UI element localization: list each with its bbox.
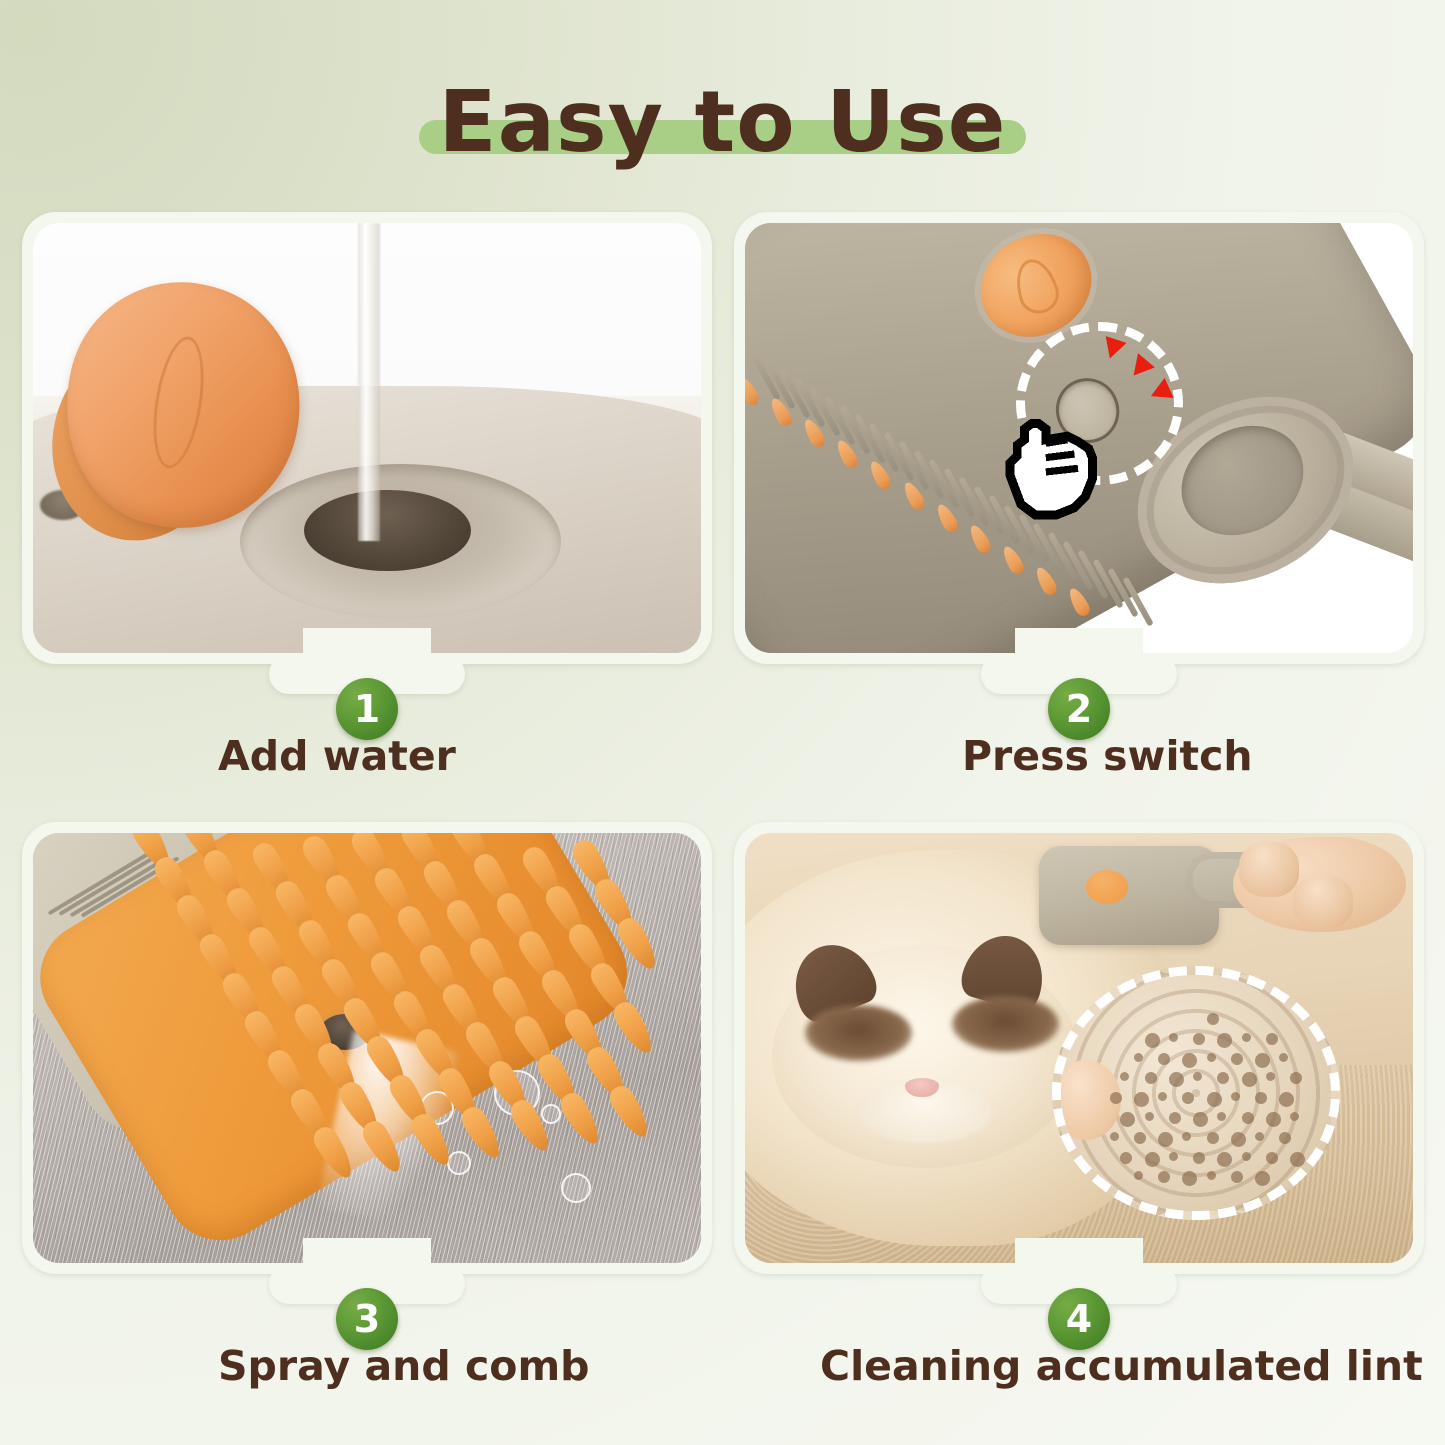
step-badge-1: 1	[336, 678, 398, 740]
step-caption-2: Press switch	[734, 732, 1424, 780]
step-4-photo	[745, 833, 1413, 1263]
silicone-spike	[834, 438, 861, 471]
silicone-spike	[966, 522, 993, 555]
lint-hole	[1158, 1092, 1167, 1101]
step-card-3: 3 Spray and comb	[22, 822, 712, 1422]
lint-hole	[1266, 1033, 1278, 1045]
silicone-bristle	[605, 1082, 654, 1142]
lint-hole	[1290, 1072, 1302, 1084]
lint-hole	[1290, 1112, 1299, 1121]
lint-hole	[1231, 1171, 1243, 1183]
lint-hole	[1120, 1112, 1135, 1127]
lint-hole	[1134, 1171, 1143, 1180]
step-1-photo	[33, 223, 701, 653]
lint-hole	[1242, 1033, 1251, 1042]
silicone-bristle	[556, 1089, 605, 1149]
lint-hole	[1158, 1171, 1170, 1183]
lint-hole	[1145, 1112, 1154, 1121]
cat-face-marking-right	[952, 996, 1059, 1052]
step-2-photo	[745, 223, 1413, 653]
step-3-photo	[33, 833, 701, 1263]
step-4-photo-frame: 4	[734, 822, 1424, 1274]
bubble-icon	[561, 1173, 591, 1203]
lint-hole	[1134, 1092, 1149, 1107]
step-caption-1: Add water	[22, 732, 712, 780]
steps-grid: 1 Add water	[22, 212, 1423, 1422]
step-1-photo-frame: 1	[22, 212, 712, 664]
lint-hole	[1207, 1053, 1216, 1062]
silicone-spike	[1066, 585, 1093, 618]
lint-hole	[1169, 1033, 1178, 1042]
lint-hole	[1158, 1132, 1173, 1147]
lint-hole	[1290, 1152, 1305, 1167]
bubble-icon	[447, 1151, 471, 1175]
step-2-photo-frame: 2	[734, 212, 1424, 664]
water-stream-icon	[358, 223, 381, 541]
silicone-spike	[745, 375, 761, 408]
step-card-2: 2 Press switch	[734, 212, 1424, 812]
finger	[1239, 842, 1299, 898]
page-title: Easy to Use	[439, 78, 1007, 167]
step-badge-4: 4	[1048, 1288, 1110, 1350]
lint-hole	[1207, 1092, 1222, 1107]
lint-hole	[1145, 1152, 1160, 1167]
step-caption-3: Spray and comb	[22, 1342, 712, 1390]
lint-hole	[1242, 1152, 1251, 1161]
lint-hole	[1217, 1033, 1232, 1048]
lint-hole	[1134, 1132, 1146, 1144]
bubble-icon	[541, 1104, 561, 1124]
lint-hole	[1169, 1112, 1181, 1124]
silicone-spike	[1000, 543, 1027, 576]
step-badge-2: 2	[1048, 678, 1110, 740]
lint-hole	[1255, 1053, 1270, 1068]
lint-hole	[1182, 1092, 1194, 1104]
infographic-poster: Easy to Use 1 Add water	[0, 0, 1445, 1445]
lint-hole	[1182, 1053, 1197, 1068]
cat-face-marking-left	[805, 1005, 912, 1061]
lint-hole	[1110, 1092, 1122, 1104]
lint-hole	[1158, 1053, 1170, 1065]
lint-hole	[1110, 1132, 1119, 1141]
lint-hole	[1207, 1013, 1219, 1025]
silicone-bristle	[609, 998, 658, 1058]
step-badge-3: 3	[336, 1288, 398, 1350]
lint-hole	[1242, 1112, 1254, 1124]
step-caption-4: Cleaning accumulated lint	[734, 1342, 1424, 1390]
lint-hole	[1217, 1152, 1232, 1167]
lint-hole	[1182, 1132, 1191, 1141]
lint-hole	[1266, 1152, 1278, 1164]
lint-hole	[1182, 1171, 1197, 1186]
lint-hole	[1231, 1053, 1243, 1065]
lint-hole	[1134, 1053, 1143, 1062]
lint-hole	[1207, 1132, 1219, 1144]
cat-nose	[905, 1078, 938, 1097]
lint-hole	[1169, 1072, 1184, 1087]
dashed-circle-inset-icon	[1052, 966, 1339, 1220]
lint-hole	[1279, 1053, 1288, 1062]
lint-hole	[1145, 1072, 1157, 1084]
lint-hole	[1231, 1092, 1240, 1101]
lint-hole	[1217, 1112, 1226, 1121]
step-3-photo-frame: 3	[22, 822, 712, 1274]
lint-hole	[1255, 1171, 1270, 1186]
lint-hole	[1120, 1072, 1129, 1081]
lint-hole	[1231, 1132, 1246, 1147]
lint-hole	[1193, 1033, 1205, 1045]
lint-hole	[1193, 1112, 1208, 1127]
lint-hole	[1193, 1152, 1205, 1164]
lint-hole	[1255, 1132, 1264, 1141]
lint-hole	[1120, 1152, 1132, 1164]
lint-hole	[1207, 1171, 1216, 1180]
lint-hole	[1255, 1092, 1267, 1104]
step-card-4: 4 Cleaning accumulated lint	[734, 822, 1424, 1422]
lint-hole	[1266, 1112, 1281, 1127]
step-card-1: 1 Add water	[22, 212, 712, 812]
finger	[1293, 876, 1353, 928]
silicone-spike	[1033, 564, 1060, 597]
lint-hole	[1193, 1072, 1202, 1081]
lint-hole	[1217, 1072, 1229, 1084]
hand-cursor-icon	[999, 404, 1107, 522]
water-drop-button-icon	[1086, 870, 1129, 904]
lint-hole	[1279, 1092, 1294, 1107]
lint-hole	[1279, 1132, 1291, 1144]
lint-hole	[1242, 1072, 1257, 1087]
water-fill-hole-icon	[304, 490, 471, 572]
page-title-container: Easy to Use	[0, 58, 1445, 188]
lint-hole	[1145, 1033, 1160, 1048]
lint-hole	[1266, 1072, 1275, 1081]
lint-hole	[1169, 1152, 1178, 1161]
